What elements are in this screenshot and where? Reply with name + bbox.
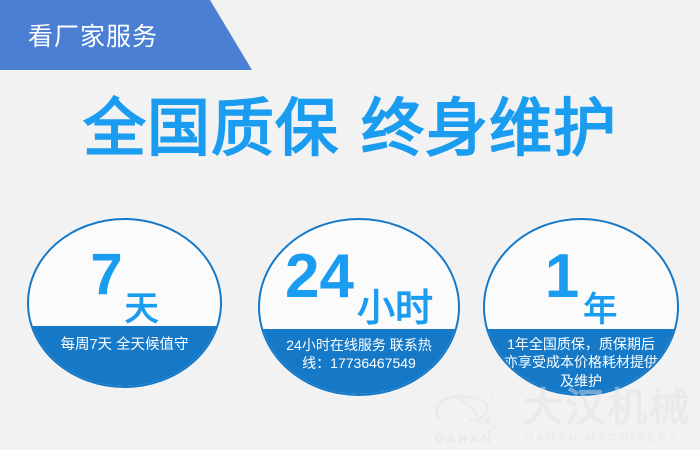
- page-title: 全国质保终身维护: [0, 98, 700, 161]
- card-description-1year: 1年全国质保，质保期后亦享受成本价格耗材提供及维护: [501, 335, 661, 390]
- card-footer-1year: 1年全国质保，质保期后亦享受成本价格耗材提供及维护: [485, 329, 677, 394]
- watermark-brand-en-left: DAHAN: [435, 432, 493, 446]
- section-header-label: 看厂家服务: [28, 0, 158, 70]
- card-number-7day: 7: [90, 246, 122, 304]
- card-footer-24hour: 24小时在线服务 联系热线：17736467549: [260, 329, 458, 394]
- card-number-24hour: 24: [285, 246, 354, 308]
- guarantee-card-1year: 1 年 1年全国质保，质保期后亦享受成本价格耗材提供及维护: [483, 218, 679, 396]
- card-unit-24hour: 小时: [357, 290, 433, 333]
- card-unit-1year: 年: [583, 293, 617, 333]
- card-description-24hour: 24小时在线服务 联系热线：17736467549: [284, 336, 434, 373]
- promo-banner-page: 看厂家服务 全国质保终身维护 7 天 每周7天 全天候值守 24 小时 24小时…: [0, 0, 700, 450]
- card-number-1year: 1: [545, 246, 579, 308]
- card-headline-7day: 7 天: [29, 220, 220, 330]
- guarantee-card-7day: 7 天 每周7天 全天候值守: [27, 218, 222, 388]
- card-unit-7day: 天: [125, 292, 159, 330]
- page-title-part2: 终身维护: [361, 94, 617, 164]
- card-headline-1year: 1 年: [485, 220, 677, 333]
- card-description-7day: 每周7天 全天候值守: [60, 336, 188, 355]
- page-title-part1: 全国质保: [83, 94, 339, 164]
- card-footer-7day: 每周7天 全天候值守: [29, 326, 220, 386]
- guarantee-card-list: 7 天 每周7天 全天候值守 24 小时 24小时在线服务 联系热线：17736…: [0, 218, 700, 398]
- card-headline-24hour: 24 小时: [260, 220, 458, 333]
- guarantee-card-24hour: 24 小时 24小时在线服务 联系热线：17736467549: [258, 218, 460, 396]
- watermark-brand-en-right: DAHAN MACHINERY: [525, 432, 679, 444]
